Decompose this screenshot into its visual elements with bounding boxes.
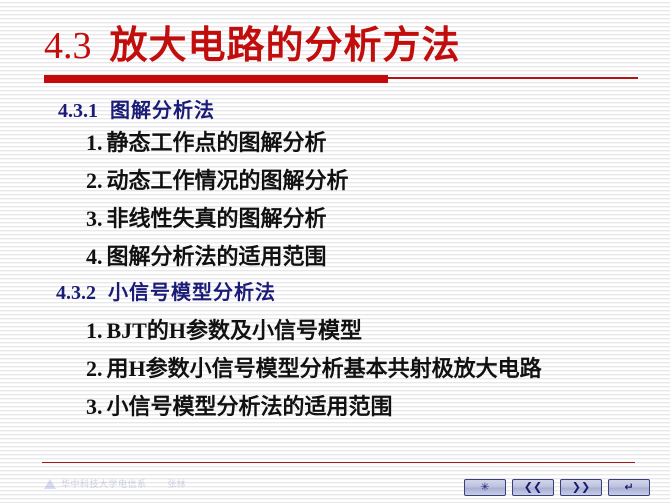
list-item-latin-h: H: [129, 356, 146, 381]
list-item-number: 3.: [86, 394, 103, 419]
previous-slide-button[interactable]: ❮❮: [512, 479, 554, 496]
footer-rule: [42, 462, 635, 463]
return-arrow-icon: ↵: [624, 482, 633, 493]
list-item-connector: 用: [107, 357, 129, 382]
list-item-label: 参数小信号模型分析基本共射极放大电路: [146, 357, 542, 382]
list-item: 1.静态工作点的图解分析: [86, 132, 327, 155]
list-item-number: 3.: [86, 206, 103, 231]
list-item-number: 2.: [86, 356, 103, 381]
list-item: 2.动态工作情况的图解分析: [86, 170, 349, 193]
list-item-number: 4.: [86, 244, 103, 269]
section-heading-431: 4.3.1图解分析法: [58, 100, 215, 121]
list-item: 3.小信号模型分析法的适用范围: [86, 396, 393, 419]
next-slide-button[interactable]: ❯❯: [560, 479, 602, 496]
list-item-number: 1.: [86, 318, 103, 343]
list-item-latin-h: H: [169, 318, 186, 343]
section-number-431: 4.3.1: [58, 100, 98, 122]
double-chevron-right-icon: ❯❯: [572, 482, 590, 493]
return-button[interactable]: ↵: [608, 479, 650, 496]
list-item: 3.非线性失真的图解分析: [86, 208, 327, 231]
watermark-organization: 华中科技大学电信系: [61, 477, 147, 490]
list-item-label: 非线性失真的图解分析: [107, 207, 327, 232]
list-item: 4.图解分析法的适用范围: [86, 246, 327, 269]
list-item: 2.用H参数小信号模型分析基本共射极放大电路: [86, 358, 542, 381]
title-text: 放大电路的分析方法: [110, 14, 461, 69]
section-title-431: 图解分析法: [110, 98, 215, 122]
page-title: 4.3 放大电路的分析方法: [44, 14, 461, 69]
first-slide-button[interactable]: ✳: [464, 479, 506, 496]
list-item-label: 图解分析法的适用范围: [107, 245, 327, 270]
list-item-label: 小信号模型分析法的适用范围: [107, 395, 393, 420]
list-item-number: 2.: [86, 168, 103, 193]
slide-canvas: 4.3 放大电路的分析方法 4.3.1图解分析法 1.静态工作点的图解分析 2.…: [0, 0, 670, 503]
footer-watermark: 华中科技大学电信系 张林: [44, 477, 186, 490]
slide-navigation-bar: ✳ ❮❮ ❯❯ ↵: [464, 479, 650, 496]
list-item-latin-prefix: BJT: [107, 318, 147, 343]
section-heading-432: 4.3.2小信号模型分析法: [56, 282, 276, 303]
title-rule-thin: [388, 77, 638, 79]
list-item-number: 1.: [86, 130, 103, 155]
section-number-432: 4.3.2: [56, 282, 96, 304]
asterisk-icon: ✳: [480, 482, 489, 493]
title-rule-thick: [44, 75, 388, 83]
section-title-432: 小信号模型分析法: [108, 280, 276, 304]
list-item-label: 参数及小信号模型: [186, 319, 362, 344]
list-item-label: 静态工作点的图解分析: [107, 131, 327, 156]
list-item-connector: 的: [147, 319, 169, 344]
double-chevron-left-icon: ❮❮: [524, 482, 542, 493]
triangle-logo-icon: [44, 479, 56, 489]
watermark-author: 张林: [168, 477, 186, 490]
list-item: 1.BJT的H参数及小信号模型: [86, 320, 362, 343]
list-item-label: 动态工作情况的图解分析: [107, 169, 349, 194]
title-number: 4.3: [44, 24, 92, 68]
